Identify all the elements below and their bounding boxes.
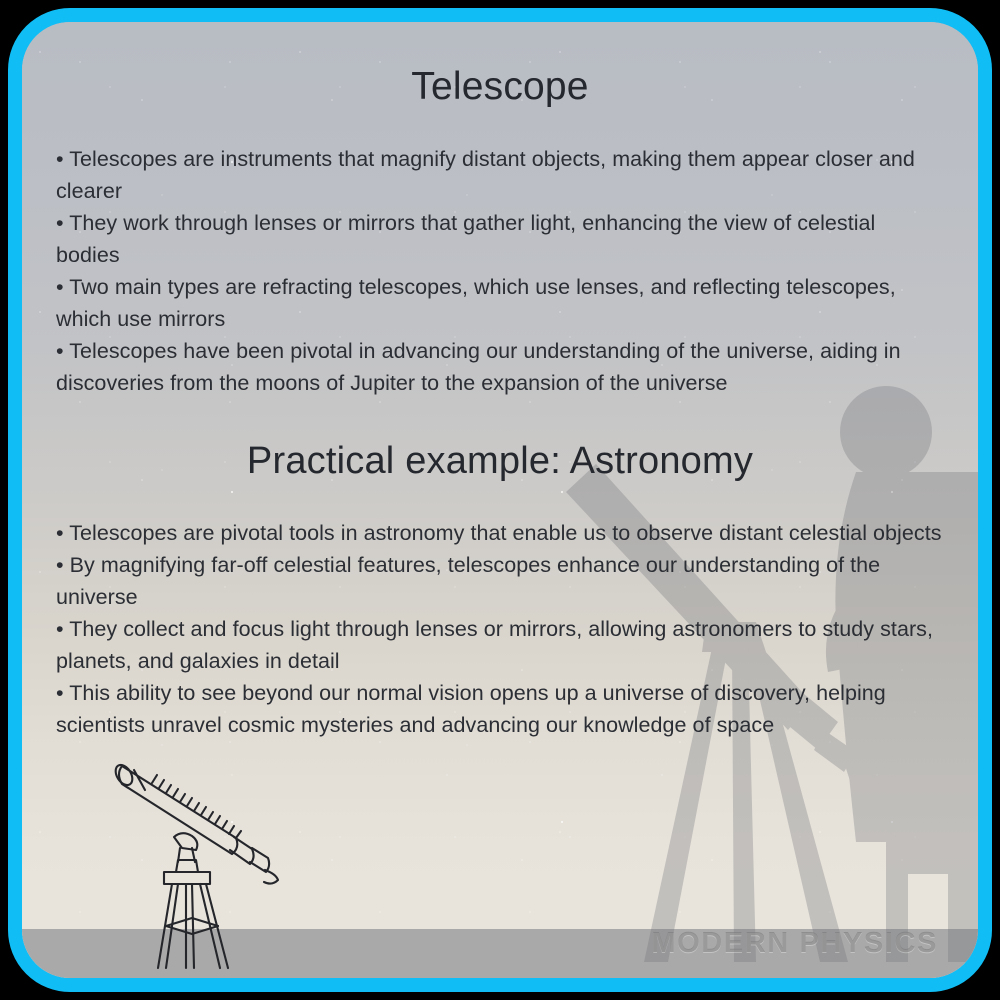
list-item: • By magnifying far-off celestial featur… [56, 549, 944, 613]
slide-content: Telescope • Telescopes are instruments t… [22, 22, 978, 741]
list-item: • Two main types are refracting telescop… [56, 271, 944, 335]
list-item: • This ability to see beyond our normal … [56, 677, 944, 741]
slide-frame: Telescope • Telescopes are instruments t… [8, 8, 992, 992]
watermark: MODERN PHYSICS [651, 927, 938, 960]
section-subtitle: Practical example: Astronomy [56, 441, 944, 483]
list-item: • Telescopes have been pivotal in advanc… [56, 335, 944, 399]
telescope-line-drawing-icon [100, 744, 300, 976]
page-title: Telescope [56, 66, 944, 109]
bullet-list-overview: • Telescopes are instruments that magnif… [56, 143, 944, 399]
slide-canvas: Telescope • Telescopes are instruments t… [0, 0, 1000, 1000]
list-item: • They collect and focus light through l… [56, 613, 944, 677]
bullet-list-practical-example: • Telescopes are pivotal tools in astron… [56, 517, 944, 741]
list-item: • They work through lenses or mirrors th… [56, 207, 944, 271]
list-item: • Telescopes are instruments that magnif… [56, 143, 944, 207]
list-item: • Telescopes are pivotal tools in astron… [56, 517, 944, 549]
